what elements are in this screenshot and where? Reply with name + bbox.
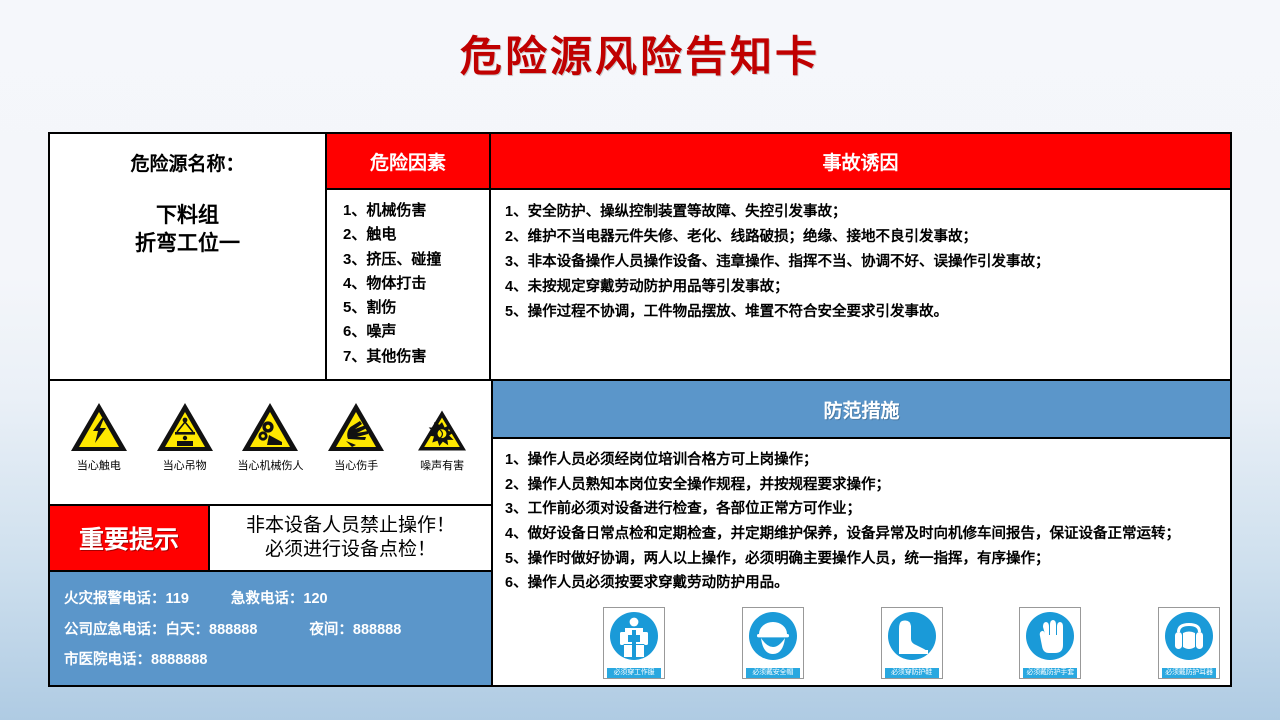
ambulance-label: 急救电话： bbox=[231, 591, 304, 607]
ambulance-value: 120 bbox=[303, 591, 327, 607]
warning-sign-suspended-load: 当心吊物 bbox=[145, 393, 225, 473]
hazard-name-column: 危险源名称： 下料组 折弯工位一 bbox=[50, 134, 327, 379]
fire-value: 119 bbox=[166, 591, 189, 607]
list-item: 7、其他伤害 bbox=[343, 345, 489, 369]
important-notice-row: 重要提示 非本设备人员禁止操作！ 必须进行设备点检！ bbox=[50, 506, 491, 572]
list-item: 2、触电 bbox=[343, 223, 489, 247]
ear-protection-mandatory-icon bbox=[1164, 611, 1214, 661]
contact-row-company: 公司应急电话：白天：888888夜间：888888 bbox=[64, 615, 491, 646]
top-section: 危险源名称： 下料组 折弯工位一 危险因素 1、机械伤害 2、触电 3、挤压、碰… bbox=[50, 134, 1230, 381]
day-label: 白天： bbox=[166, 622, 210, 638]
important-notice-label: 重要提示 bbox=[50, 506, 210, 570]
night-label: 夜间： bbox=[309, 622, 353, 638]
safety-shoes-mandatory-icon bbox=[887, 611, 937, 661]
warning-sign-label: 当心伤手 bbox=[316, 457, 396, 473]
page-title: 危险源风险告知卡 bbox=[0, 0, 1280, 78]
bottom-section: 当心触电 当心吊物 bbox=[50, 381, 1230, 685]
hand-injury-warning-icon bbox=[326, 401, 386, 455]
noise-hazard-warning-icon bbox=[415, 407, 469, 455]
hazard-name-header: 危险源名称： bbox=[50, 134, 325, 190]
list-item: 1、机械伤害 bbox=[343, 199, 489, 223]
measures-column: 防范措施 1、操作人员必须经岗位培训合格方可上岗操作； 2、操作人员熟知本岗位安… bbox=[493, 381, 1230, 685]
contact-row-hospital: 市医院电话：8888888 bbox=[64, 645, 491, 676]
ppe-sign-safety-helmet: 必须戴安全帽 bbox=[742, 607, 804, 679]
hazard-factors-column: 危险因素 1、机械伤害 2、触电 3、挤压、碰撞 4、物体打击 5、割伤 6、噪… bbox=[327, 134, 491, 379]
hospital-label: 市医院电话： bbox=[64, 652, 151, 668]
hospital-value: 8888888 bbox=[151, 652, 207, 668]
hazard-notice-card: 危险源名称： 下料组 折弯工位一 危险因素 1、机械伤害 2、触电 3、挤压、碰… bbox=[48, 132, 1232, 687]
warning-sign-hand-injury: 当心伤手 bbox=[316, 393, 396, 473]
warning-sign-label: 当心机械伤人 bbox=[230, 457, 310, 473]
list-item: 3、非本设备操作人员操作设备、违章操作、指挥不当、协调不好、误操作引发事故； bbox=[505, 250, 1218, 275]
ppe-sign-work-clothes: 必须穿工作服 bbox=[603, 607, 665, 679]
safety-helmet-mandatory-icon bbox=[748, 611, 798, 661]
list-item: 4、未按规定穿戴劳动防护用品等引发事故； bbox=[505, 275, 1218, 300]
ppe-sign-label: 必须穿工作服 bbox=[607, 668, 661, 678]
accident-causes-column: 事故诱因 1、安全防护、操纵控制装置等故障、失控引发事故； 2、维护不当电器元件… bbox=[491, 134, 1230, 379]
night-value: 888888 bbox=[353, 622, 401, 638]
list-item: 5、操作时做好协调，两人以上操作，必须明确主要操作人员，统一指挥，有序操作； bbox=[505, 547, 1220, 572]
hazard-name-line-1: 下料组 bbox=[50, 202, 325, 230]
warning-signs-row: 当心触电 当心吊物 bbox=[50, 381, 491, 506]
company-label: 公司应急电话： bbox=[64, 622, 166, 638]
warning-sign-label: 噪声有害 bbox=[402, 457, 482, 473]
accident-causes-header: 事故诱因 bbox=[491, 134, 1230, 190]
work-clothes-mandatory-icon bbox=[609, 611, 659, 661]
hazard-factors-body: 1、机械伤害 2、触电 3、挤压、碰撞 4、物体打击 5、割伤 6、噪声 7、其… bbox=[327, 190, 489, 379]
warning-sign-label: 当心触电 bbox=[59, 457, 139, 473]
ppe-sign-label: 必须穿防护鞋 bbox=[885, 668, 939, 678]
machinery-injury-warning-icon bbox=[240, 401, 300, 455]
list-item: 6、噪声 bbox=[343, 320, 489, 344]
suspended-load-warning-icon bbox=[155, 401, 215, 455]
hazard-name-body: 下料组 折弯工位一 bbox=[50, 190, 325, 379]
important-notice-line-2: 必须进行设备点检！ bbox=[265, 538, 436, 562]
list-item: 3、挤压、碰撞 bbox=[343, 248, 489, 272]
list-item: 1、安全防护、操纵控制装置等故障、失控引发事故； bbox=[505, 200, 1218, 225]
warning-sign-electric-shock: 当心触电 bbox=[59, 393, 139, 473]
list-item: 2、操作人员熟知本岗位安全操作规程，并按规程要求操作； bbox=[505, 473, 1220, 498]
accident-causes-body: 1、安全防护、操纵控制装置等故障、失控引发事故； 2、维护不当电器元件失修、老化… bbox=[491, 190, 1230, 379]
ppe-sign-safety-shoes: 必须穿防护鞋 bbox=[881, 607, 943, 679]
warning-sign-noise-hazard: 噪声有害 bbox=[402, 393, 482, 473]
list-item: 1、操作人员必须经岗位培训合格方可上岗操作； bbox=[505, 448, 1220, 473]
hazard-name-line-2: 折弯工位一 bbox=[50, 230, 325, 258]
ppe-sign-label: 必须戴防护耳器 bbox=[1162, 668, 1216, 678]
emergency-contacts-block: 火灾报警电话：119急救电话：120 公司应急电话：白天：888888夜间：88… bbox=[50, 572, 491, 685]
contact-row-fire: 火灾报警电话：119急救电话：120 bbox=[64, 584, 491, 615]
ppe-sign-label: 必须戴防护手套 bbox=[1023, 668, 1077, 678]
measures-header: 防范措施 bbox=[493, 381, 1230, 439]
list-item: 6、操作人员必须按要求穿戴劳动防护用品。 bbox=[505, 571, 1220, 596]
list-item: 2、维护不当电器元件失修、老化、线路破损；绝缘、接地不良引发事故； bbox=[505, 225, 1218, 250]
left-lower-column: 当心触电 当心吊物 bbox=[50, 381, 493, 685]
list-item: 4、物体打击 bbox=[343, 272, 489, 296]
ppe-sign-label: 必须戴安全帽 bbox=[746, 668, 800, 678]
list-item: 5、割伤 bbox=[343, 296, 489, 320]
ppe-sign-safety-gloves: 必须戴防护手套 bbox=[1019, 607, 1081, 679]
list-item: 4、做好设备日常点检和定期检查，并定期维护保养，设备异常及时向机修车间报告，保证… bbox=[505, 522, 1220, 547]
electric-shock-warning-icon bbox=[69, 401, 129, 455]
list-item: 3、工作前必须对设备进行检查，各部位正常方可作业； bbox=[505, 497, 1220, 522]
hazard-factors-header: 危险因素 bbox=[327, 134, 489, 190]
fire-label: 火灾报警电话： bbox=[64, 591, 166, 607]
important-notice-text: 非本设备人员禁止操作！ 必须进行设备点检！ bbox=[210, 506, 491, 570]
measures-body: 1、操作人员必须经岗位培训合格方可上岗操作； 2、操作人员熟知本岗位安全操作规程… bbox=[493, 439, 1230, 685]
important-notice-line-1: 非本设备人员禁止操作！ bbox=[246, 514, 455, 538]
warning-sign-machinery-injury: 当心机械伤人 bbox=[230, 393, 310, 473]
list-item: 5、操作过程不协调，工件物品摆放、堆置不符合安全要求引发事故。 bbox=[505, 300, 1218, 325]
safety-gloves-mandatory-icon bbox=[1025, 611, 1075, 661]
ppe-signs-row: 必须穿工作服 必须戴安全帽 bbox=[603, 607, 1220, 679]
warning-sign-label: 当心吊物 bbox=[145, 457, 225, 473]
day-value: 888888 bbox=[209, 622, 257, 638]
ppe-sign-ear-protection: 必须戴防护耳器 bbox=[1158, 607, 1220, 679]
